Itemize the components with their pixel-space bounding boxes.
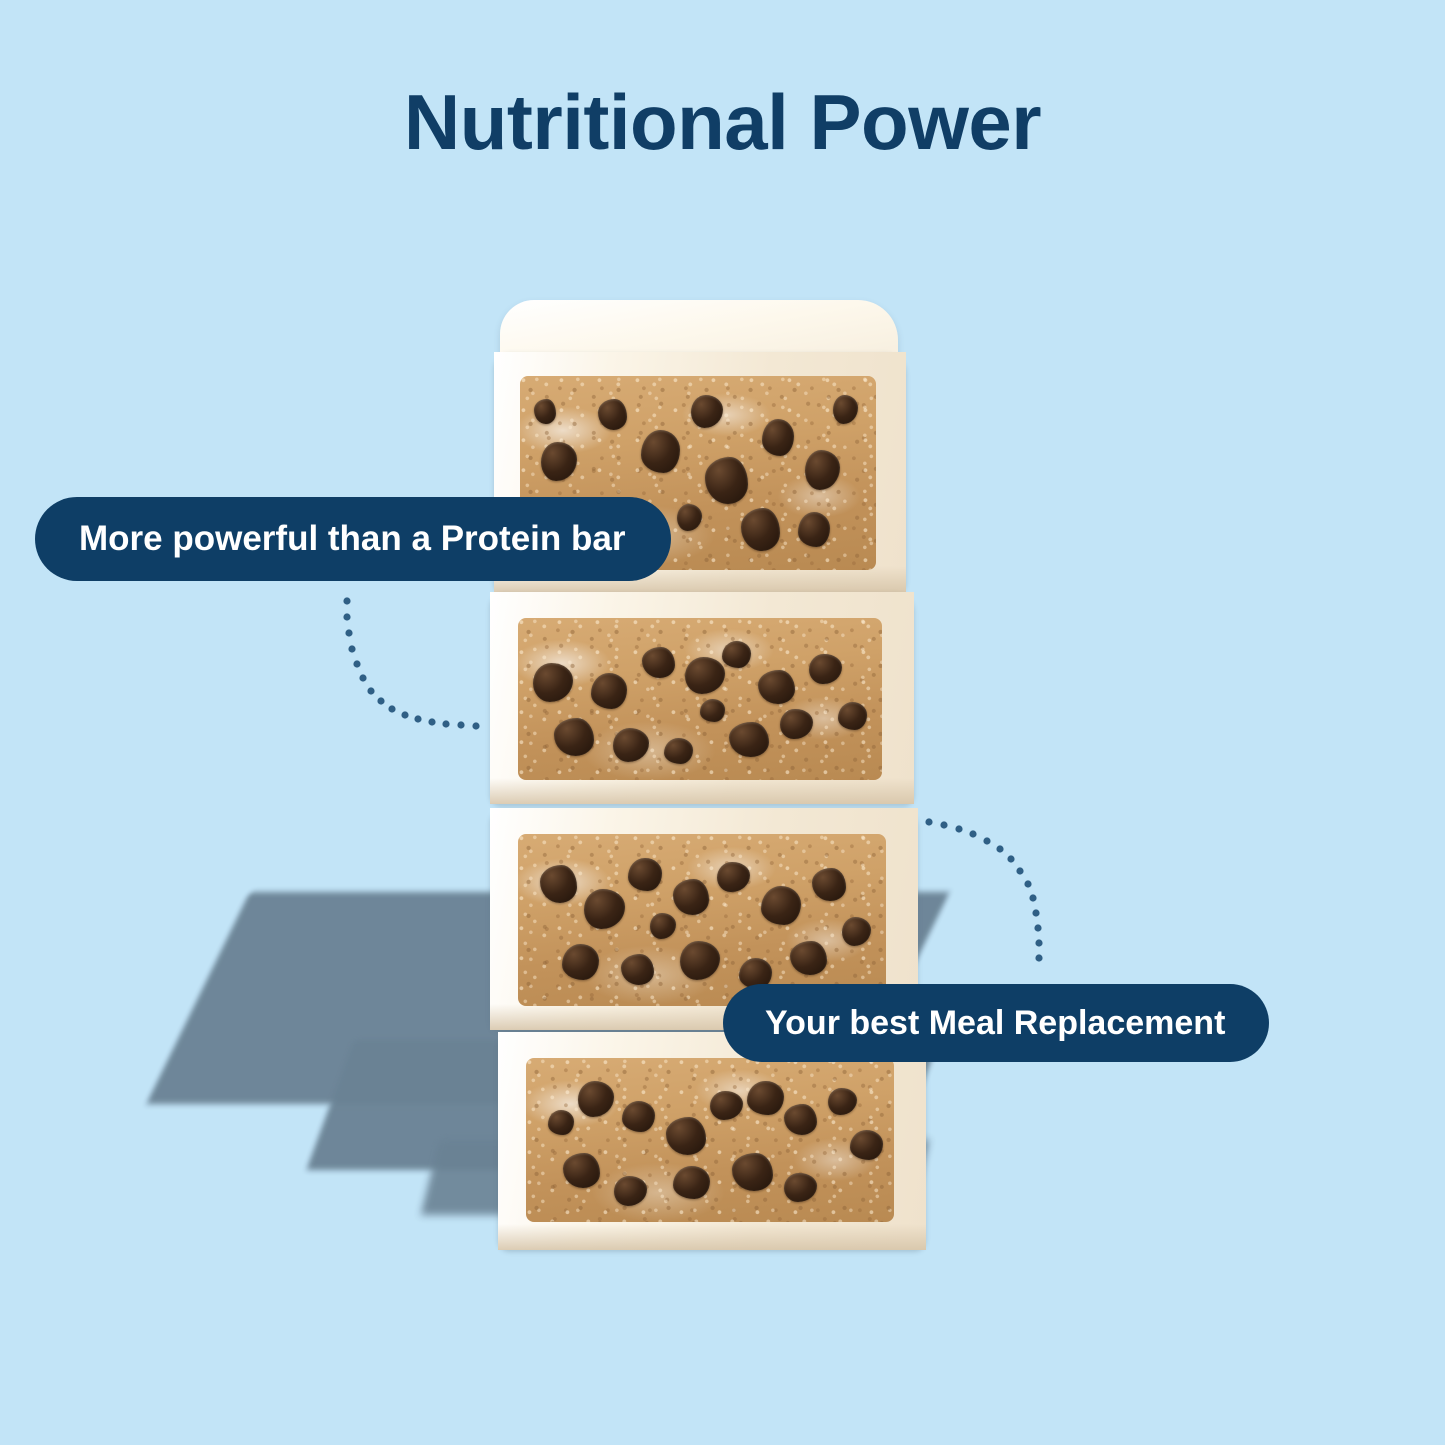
callout-meal-replacement[interactable]: Your best Meal Replacement: [723, 984, 1269, 1062]
bar-3-chips: [518, 834, 886, 1006]
callout-meal-replacement-label: Your best Meal Replacement: [765, 1004, 1225, 1043]
bar-slice-2: [490, 592, 914, 804]
bar-slice-4: [498, 1032, 926, 1250]
callout-protein-bar-label: More powerful than a Protein bar: [79, 519, 625, 559]
bar-4-chips: [526, 1058, 894, 1222]
product-bar-stack: [0, 0, 1445, 1445]
bar-4-dough: [526, 1058, 894, 1222]
bar-2-dough: [518, 618, 882, 780]
bar-2-chips: [518, 618, 882, 780]
callout-protein-bar[interactable]: More powerful than a Protein bar: [35, 497, 671, 581]
product-marketing-canvas: Nutritional Power: [0, 0, 1445, 1445]
bar-3-dough: [518, 834, 886, 1006]
